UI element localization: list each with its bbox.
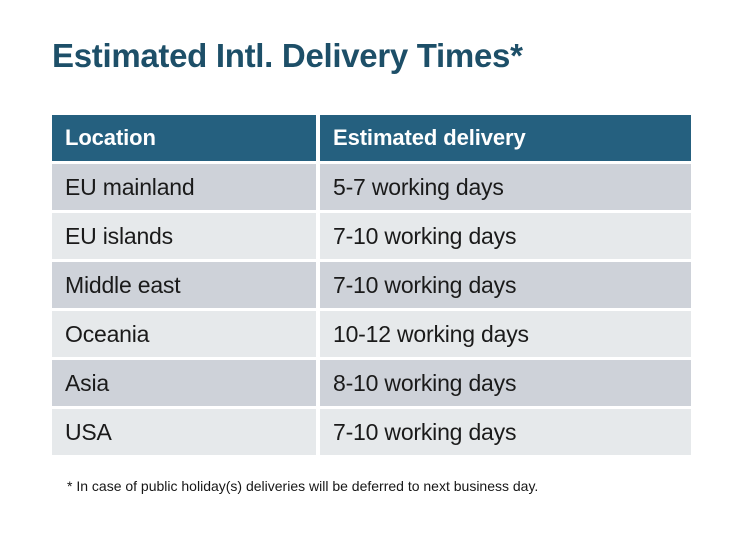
column-header-estimated-delivery: Estimated delivery [320,115,691,161]
table-row: EU mainland 5-7 working days [52,164,691,210]
cell-location: EU islands [52,213,316,259]
cell-estimated-delivery: 10-12 working days [320,311,691,357]
cell-location: Middle east [52,262,316,308]
cell-location: USA [52,409,316,455]
cell-estimated-delivery: 7-10 working days [320,213,691,259]
cell-estimated-delivery: 8-10 working days [320,360,691,406]
table-header-row: Location Estimated delivery [52,115,691,161]
cell-location: Oceania [52,311,316,357]
cell-estimated-delivery: 7-10 working days [320,409,691,455]
table-row: Oceania 10-12 working days [52,311,691,357]
footnote-public-holiday: * In case of public holiday(s) deliverie… [67,478,538,494]
table-row: Asia 8-10 working days [52,360,691,406]
cell-estimated-delivery: 7-10 working days [320,262,691,308]
delivery-times-page: Estimated Intl. Delivery Times* Location… [0,0,745,536]
column-header-location: Location [52,115,316,161]
estimated-delivery-table: Location Estimated delivery EU mainland … [52,115,691,455]
table-row: EU islands 7-10 working days [52,213,691,259]
cell-location: Asia [52,360,316,406]
table-row: USA 7-10 working days [52,409,691,455]
cell-estimated-delivery: 5-7 working days [320,164,691,210]
table-row: Middle east 7-10 working days [52,262,691,308]
page-title: Estimated Intl. Delivery Times* [52,37,523,75]
cell-location: EU mainland [52,164,316,210]
